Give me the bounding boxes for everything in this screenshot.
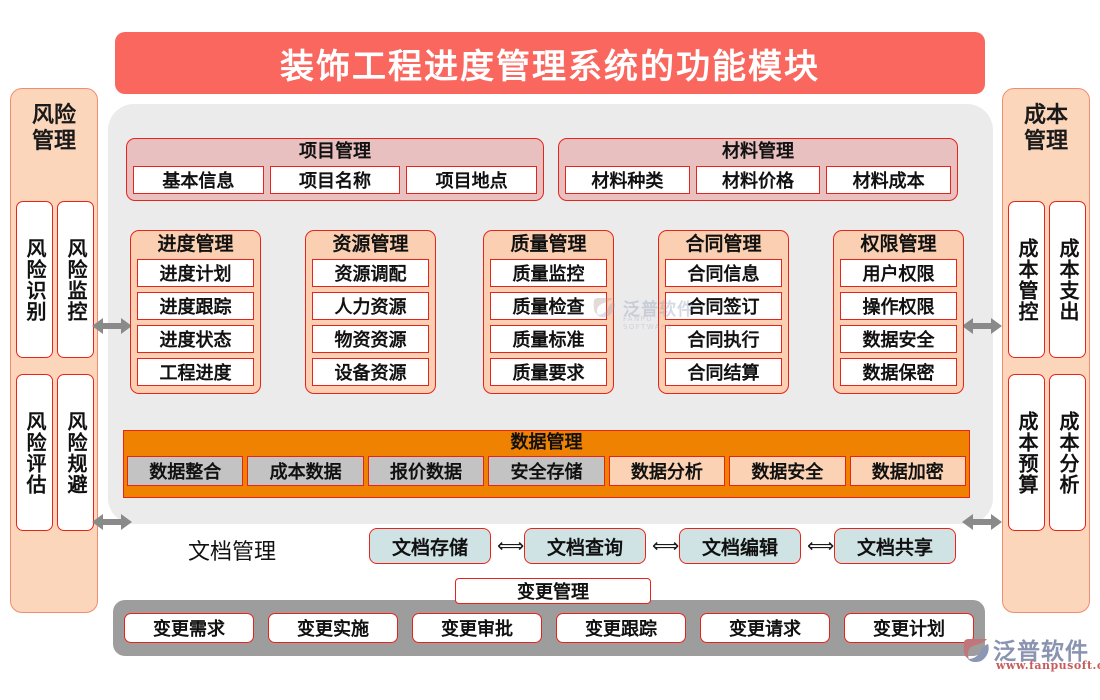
risk-chip-avoidance[interactable]: 风险规避: [57, 374, 94, 531]
doc-chip-edit[interactable]: 文档编辑: [679, 528, 801, 564]
item-user-permission[interactable]: 用户权限: [840, 259, 957, 287]
column-contract-management[interactable]: 合同管理 合同信息 合同签订 合同执行 合同结算: [658, 230, 789, 394]
cost-group-bottom: 成本预算 成本分析: [1008, 374, 1086, 531]
item-material-resource[interactable]: 物资资源: [312, 325, 429, 353]
group-project-management-title: 项目管理: [133, 143, 537, 162]
page-title: 装饰工程进度管理系统的功能模块: [115, 32, 985, 94]
risk-management-title: 风险 管理: [11, 89, 97, 155]
item-operation-permission[interactable]: 操作权限: [840, 292, 957, 320]
item-schedule-tracking[interactable]: 进度跟踪: [137, 292, 254, 320]
data-chip-analysis[interactable]: 数据分析: [609, 456, 725, 486]
cost-chip-analysis[interactable]: 成本分析: [1049, 374, 1086, 531]
chip-project-location[interactable]: 项目地点: [406, 166, 537, 194]
item-quality-monitoring[interactable]: 质量监控: [490, 259, 607, 287]
chip-basic-info[interactable]: 基本信息: [133, 166, 264, 194]
group-material-management-title: 材料管理: [565, 143, 951, 162]
change-chip-approval[interactable]: 变更审批: [412, 613, 542, 643]
left-connector-arrow-upper: [92, 315, 132, 337]
item-data-security[interactable]: 数据安全: [840, 325, 957, 353]
column-quality-management[interactable]: 质量管理 质量监控 质量检查 质量标准 质量要求: [483, 230, 614, 394]
risk-group-top: 风险识别 风险监控: [16, 201, 94, 358]
group-project-management-items: 基本信息 项目名称 项目地点: [133, 166, 537, 194]
item-data-confidentiality[interactable]: 数据保密: [840, 358, 957, 386]
risk-title-line-2: 管理: [11, 129, 97, 155]
change-chip-requirement[interactable]: 变更需求: [124, 613, 254, 643]
cost-management-panel[interactable]: 成本 管理 成本管控 成本支出 成本预算 成本分析: [1002, 88, 1090, 613]
cost-title-line-2: 管理: [1003, 129, 1089, 155]
chip-material-cost[interactable]: 材料成本: [826, 166, 951, 194]
item-resource-allocation[interactable]: 资源调配: [312, 259, 429, 287]
doc-chip-share[interactable]: 文档共享: [834, 528, 956, 564]
risk-title-line-1: 风险: [11, 103, 97, 129]
cost-chip-budget[interactable]: 成本预算: [1008, 374, 1045, 531]
item-project-progress[interactable]: 工程进度: [137, 358, 254, 386]
data-chip-cost-data[interactable]: 成本数据: [247, 456, 363, 486]
risk-chip-monitoring[interactable]: 风险监控: [57, 201, 94, 358]
change-chip-implementation[interactable]: 变更实施: [268, 613, 398, 643]
item-equipment-resource[interactable]: 设备资源: [312, 358, 429, 386]
item-contract-execution[interactable]: 合同执行: [665, 325, 782, 353]
brand-logo-url: www.fanpusoft.com: [996, 659, 1100, 672]
risk-chip-identification[interactable]: 风险识别: [16, 201, 53, 358]
brand-logo-text: 泛普软件: [993, 632, 1089, 666]
column-quality-title: 质量管理: [490, 234, 607, 255]
cost-group-top: 成本管控 成本支出: [1008, 201, 1086, 358]
column-schedule-title: 进度管理: [137, 234, 254, 255]
cost-title-line-1: 成本: [1003, 103, 1089, 129]
doc-chip-storage[interactable]: 文档存储: [369, 528, 491, 564]
column-resource-title: 资源管理: [312, 234, 429, 255]
group-material-management[interactable]: 材料管理 材料种类 材料价格 材料成本: [558, 138, 958, 201]
item-quality-inspection[interactable]: 质量检查: [490, 292, 607, 320]
page-title-text: 装饰工程进度管理系统的功能模块: [280, 39, 820, 88]
chip-material-type[interactable]: 材料种类: [565, 166, 690, 194]
doc-connector-1: ⟺: [497, 536, 521, 556]
item-contract-signing[interactable]: 合同签订: [665, 292, 782, 320]
document-management-row: 文档管理 文档存储 ⟺ 文档查询 ⟺ 文档编辑 ⟺ 文档共享: [110, 524, 995, 576]
column-schedule-management[interactable]: 进度管理 进度计划 进度跟踪 进度状态 工程进度: [130, 230, 261, 394]
item-quality-standard[interactable]: 质量标准: [490, 325, 607, 353]
group-project-management[interactable]: 项目管理 基本信息 项目名称 项目地点: [126, 138, 544, 201]
document-management-label: 文档管理: [188, 534, 276, 566]
data-chip-security[interactable]: 数据安全: [729, 456, 845, 486]
cost-management-title: 成本 管理: [1003, 89, 1089, 155]
data-chip-integration[interactable]: 数据整合: [127, 456, 243, 486]
cost-chip-expenditure[interactable]: 成本支出: [1049, 201, 1086, 358]
risk-management-panel[interactable]: 风险 管理 风险识别 风险监控 风险评估 风险规避: [10, 88, 98, 613]
change-chip-plan[interactable]: 变更计划: [844, 613, 974, 643]
item-contract-settlement[interactable]: 合同结算: [665, 358, 782, 386]
data-chip-quote-data[interactable]: 报价数据: [368, 456, 484, 486]
item-quality-requirement[interactable]: 质量要求: [490, 358, 607, 386]
data-chip-encryption[interactable]: 数据加密: [850, 456, 966, 486]
risk-group-bottom: 风险评估 风险规避: [16, 374, 94, 531]
data-chip-secure-storage[interactable]: 安全存储: [488, 456, 604, 486]
chip-project-name[interactable]: 项目名称: [270, 166, 401, 194]
group-material-management-items: 材料种类 材料价格 材料成本: [565, 166, 951, 194]
data-management-title: 数据管理: [127, 433, 966, 453]
doc-connector-2: ⟺: [652, 536, 676, 556]
item-human-resource[interactable]: 人力资源: [312, 292, 429, 320]
doc-chip-query[interactable]: 文档查询: [524, 528, 646, 564]
doc-connector-3: ⟺: [807, 536, 831, 556]
chip-material-price[interactable]: 材料价格: [696, 166, 821, 194]
diagram-root: 装饰工程进度管理系统的功能模块 风险 管理 风险识别 风险监控 风险评估 风险规…: [0, 0, 1100, 700]
change-chip-request[interactable]: 变更请求: [700, 613, 830, 643]
risk-chip-assessment[interactable]: 风险评估: [16, 374, 53, 531]
column-resource-management[interactable]: 资源管理 资源调配 人力资源 物资资源 设备资源: [305, 230, 436, 394]
change-management-title: 变更管理: [455, 578, 651, 604]
data-management-items: 数据整合 成本数据 报价数据 安全存储 数据分析 数据安全 数据加密: [127, 456, 966, 486]
change-management-bar[interactable]: 变更需求 变更实施 变更审批 变更跟踪 变更请求 变更计划: [113, 600, 985, 656]
item-schedule-plan[interactable]: 进度计划: [137, 259, 254, 287]
column-permission-title: 权限管理: [840, 234, 957, 255]
item-schedule-status[interactable]: 进度状态: [137, 325, 254, 353]
right-connector-arrow-upper: [962, 315, 1002, 337]
change-chip-tracking[interactable]: 变更跟踪: [556, 613, 686, 643]
cost-chip-control[interactable]: 成本管控: [1008, 201, 1045, 358]
column-contract-title: 合同管理: [665, 234, 782, 255]
column-permission-management[interactable]: 权限管理 用户权限 操作权限 数据安全 数据保密: [833, 230, 964, 394]
data-management-bar[interactable]: 数据管理 数据整合 成本数据 报价数据 安全存储 数据分析 数据安全 数据加密: [123, 430, 970, 498]
item-contract-info[interactable]: 合同信息: [665, 259, 782, 287]
